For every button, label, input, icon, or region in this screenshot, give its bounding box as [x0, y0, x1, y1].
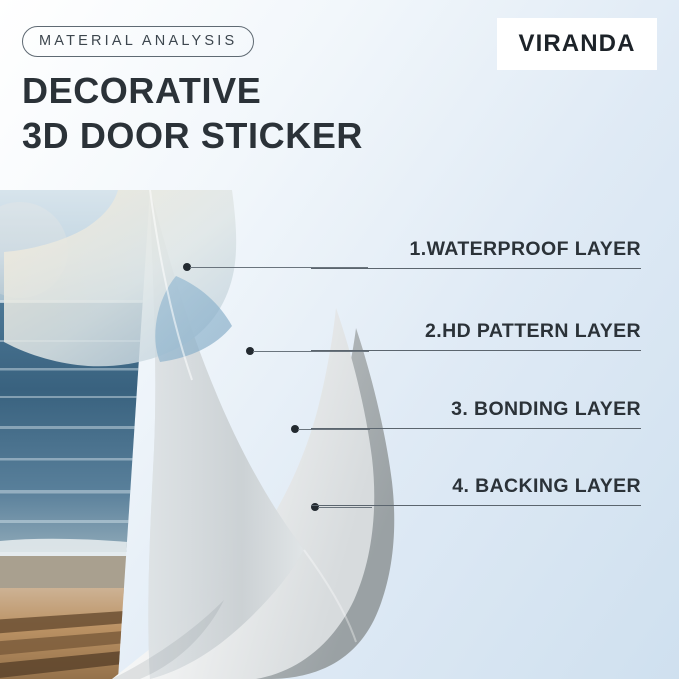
- callout-bonding-layer: 3. BONDING LAYER: [311, 398, 641, 429]
- brand-logo: VIRANDA: [497, 18, 657, 70]
- callout-rule: [311, 505, 641, 506]
- callout-rule: [311, 428, 641, 429]
- callout-label: 4. BACKING LAYER: [311, 475, 641, 505]
- title-line-2: 3D DOOR STICKER: [22, 113, 363, 158]
- title-line-1: DECORATIVE: [22, 68, 363, 113]
- brand-name: VIRANDA: [518, 30, 635, 58]
- callout-label: 3. BONDING LAYER: [311, 398, 641, 428]
- callout-rule: [311, 350, 641, 351]
- callout-rule: [311, 268, 641, 269]
- callout-label: 2.HD PATTERN LAYER: [311, 320, 641, 350]
- product-infographic: MATERIAL ANALYSIS DECORATIVE 3D DOOR STI…: [0, 0, 679, 679]
- callout-label: 1.WATERPROOF LAYER: [311, 238, 641, 268]
- leader-line-4: [318, 507, 372, 508]
- eyebrow-badge: MATERIAL ANALYSIS: [22, 26, 254, 57]
- callout-waterproof-layer: 1.WATERPROOF LAYER: [311, 238, 641, 269]
- callout-backing-layer: 4. BACKING LAYER: [311, 475, 641, 506]
- page-title: DECORATIVE 3D DOOR STICKER: [22, 68, 363, 158]
- callout-hd-pattern-layer: 2.HD PATTERN LAYER: [311, 320, 641, 351]
